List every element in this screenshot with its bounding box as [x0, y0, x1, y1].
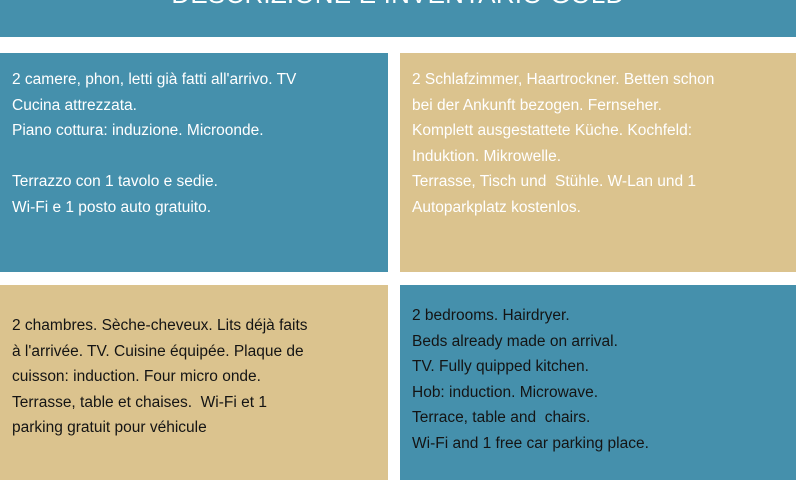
panel-line: Autoparkplatz kostenlos.: [412, 195, 784, 221]
panel-line: Cucina attrezzata.: [12, 93, 376, 119]
panel-line: bei der Ankunft bezogen. Fernseher.: [412, 93, 784, 119]
page-title: DESCRIZIONE E INVENTARIO GOLD: [0, 0, 796, 10]
slide-canvas: DESCRIZIONE E INVENTARIO GOLD 2 camere, …: [0, 0, 796, 480]
panel-line: à l'arrivée. TV. Cuisine équipée. Plaque…: [12, 339, 376, 365]
panel-line-blank: [12, 144, 376, 170]
panel-line: Terrazzo con 1 tavolo e sedie.: [12, 169, 376, 195]
panel-line: Komplett ausgestattete Küche. Kochfeld:: [412, 118, 784, 144]
panel-line: parking gratuit pour véhicule: [12, 415, 376, 441]
panel-line: Wi-Fi and 1 free car parking place.: [412, 431, 784, 457]
panel-german: 2 Schlafzimmer, Haartrockner. Betten sch…: [400, 53, 796, 272]
panel-line: Beds already made on arrival.: [412, 329, 784, 355]
panel-line: Terrasse, Tisch und Stühle. W-Lan und 1: [412, 169, 784, 195]
panel-line: TV. Fully quipped kitchen.: [412, 354, 784, 380]
panel-line: Piano cottura: induzione. Microonde.: [12, 118, 376, 144]
panel-line: Terrace, table and chairs.: [412, 405, 784, 431]
panel-line: 2 camere, phon, letti già fatti all'arri…: [12, 67, 376, 93]
panel-line: Hob: induction. Microwave.: [412, 380, 784, 406]
panel-line: cuisson: induction. Four micro onde.: [12, 364, 376, 390]
panel-french: 2 chambres. Sèche-cheveux. Lits déjà fai…: [0, 285, 388, 480]
description-grid: 2 camere, phon, letti già fatti all'arri…: [0, 53, 796, 480]
panel-italian: 2 camere, phon, letti già fatti all'arri…: [0, 53, 388, 272]
panel-line: Terrasse, table et chaises. Wi-Fi et 1: [12, 390, 376, 416]
panel-line: 2 chambres. Sèche-cheveux. Lits déjà fai…: [12, 313, 376, 339]
panel-line: Wi-Fi e 1 posto auto gratuito.: [12, 195, 376, 221]
panel-line: 2 bedrooms. Hairdryer.: [412, 303, 784, 329]
panel-english: 2 bedrooms. Hairdryer. Beds already made…: [400, 285, 796, 480]
panel-line: Induktion. Mikrowelle.: [412, 144, 784, 170]
title-band: DESCRIZIONE E INVENTARIO GOLD: [0, 0, 796, 37]
panel-line: 2 Schlafzimmer, Haartrockner. Betten sch…: [412, 67, 784, 93]
